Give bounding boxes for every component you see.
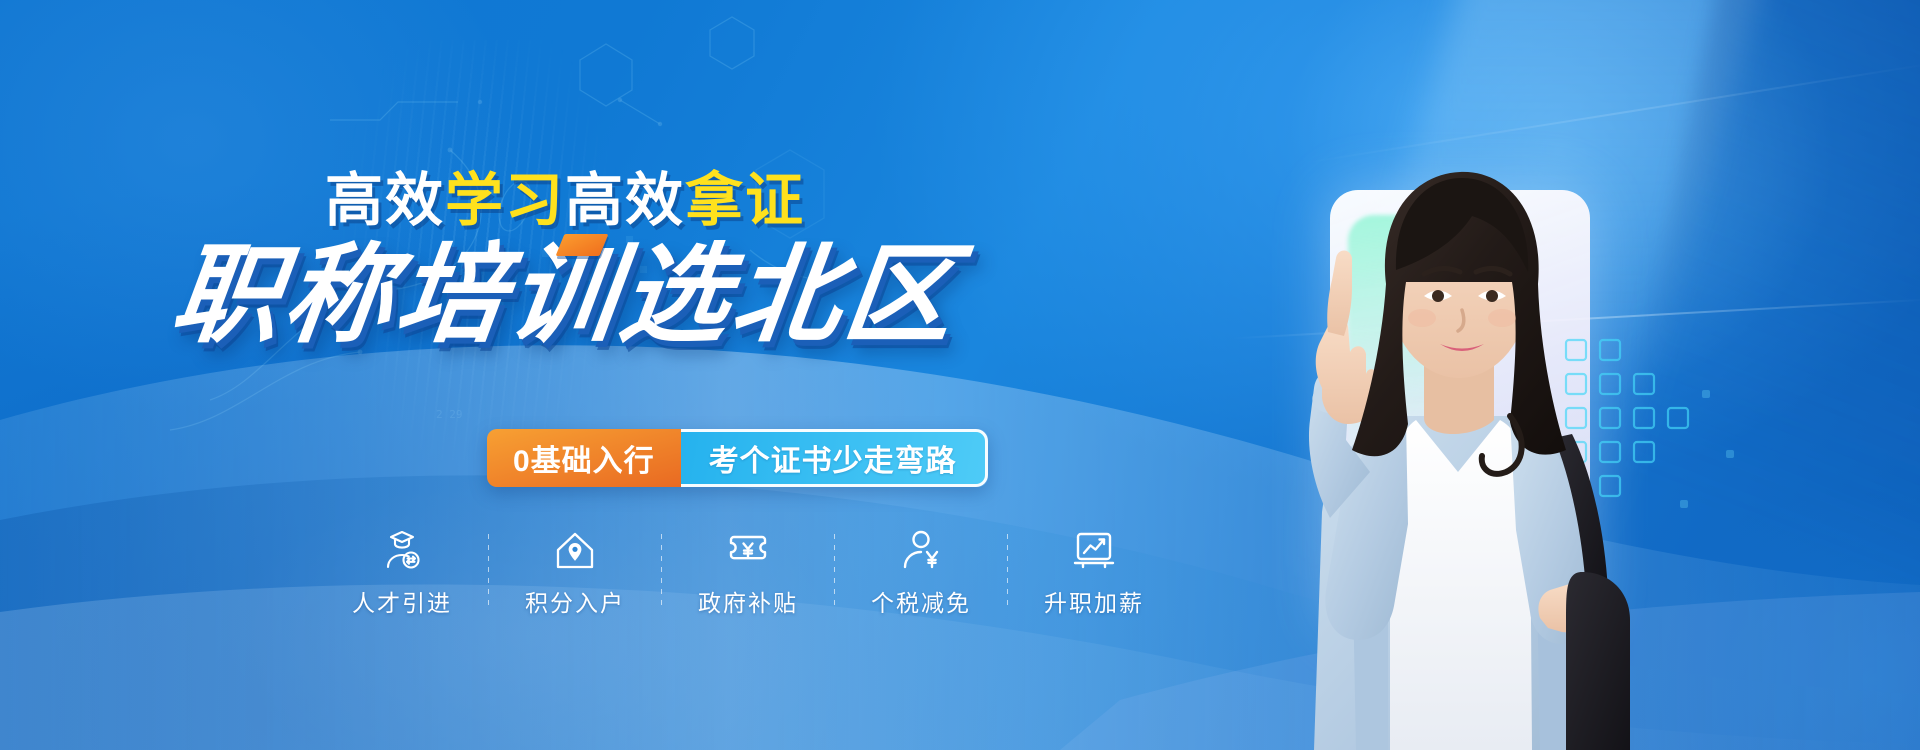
feature-item-subsidy[interactable]: 政府补贴 (676, 528, 820, 618)
kicker-segment-3: 高效 (565, 168, 685, 233)
feature-separator-1 (488, 534, 489, 606)
feature-label-taxrelief: 个税减免 (871, 584, 971, 618)
feature-separator-4 (1007, 534, 1008, 606)
feature-label-promotion: 升职加薪 (1044, 584, 1144, 618)
promo-banner: 2 29 (0, 0, 1920, 750)
kicker-segment-1: 高效 (325, 168, 445, 233)
kicker-segment-2: 学习 (445, 168, 565, 233)
kicker-segment-4: 拿证 (685, 168, 805, 233)
feature-label-subsidy: 政府补贴 (698, 584, 798, 618)
orange-accent-mark (556, 234, 609, 256)
feature-label-talent: 人才引进 (352, 584, 452, 618)
feature-separator-3 (834, 534, 835, 606)
feature-separator-2 (661, 534, 662, 606)
feature-label-residency: 积分入户 (525, 584, 625, 618)
chart-growth-icon (1072, 528, 1116, 572)
kicker-line: 高效学习高效拿证 (0, 172, 1130, 230)
badge-left-label: 0基础入行 (487, 429, 681, 487)
model-photo (1210, 120, 1680, 750)
feature-item-talent[interactable]: 人才引进 (330, 528, 474, 618)
person-yuan-icon (899, 528, 943, 572)
headline-wrap: 职称培训选北区 (0, 238, 1130, 352)
feature-list: 人才引进 积分入户 (330, 528, 1166, 618)
copy-block: 高效学习高效拿证 职称培训选北区 0基础入行 考个证书少走弯路 (0, 0, 1250, 750)
house-pin-icon (553, 528, 597, 572)
badge-right-label: 考个证书少走弯路 (681, 429, 988, 487)
feature-item-promotion[interactable]: 升职加薪 (1022, 528, 1166, 618)
feature-item-taxrelief[interactable]: 个税减免 (849, 528, 993, 618)
feature-item-residency[interactable]: 积分入户 (503, 528, 647, 618)
ticket-yuan-icon (726, 528, 770, 572)
graduate-person-icon (380, 528, 424, 572)
tagline-badge: 0基础入行 考个证书少走弯路 (487, 429, 988, 487)
